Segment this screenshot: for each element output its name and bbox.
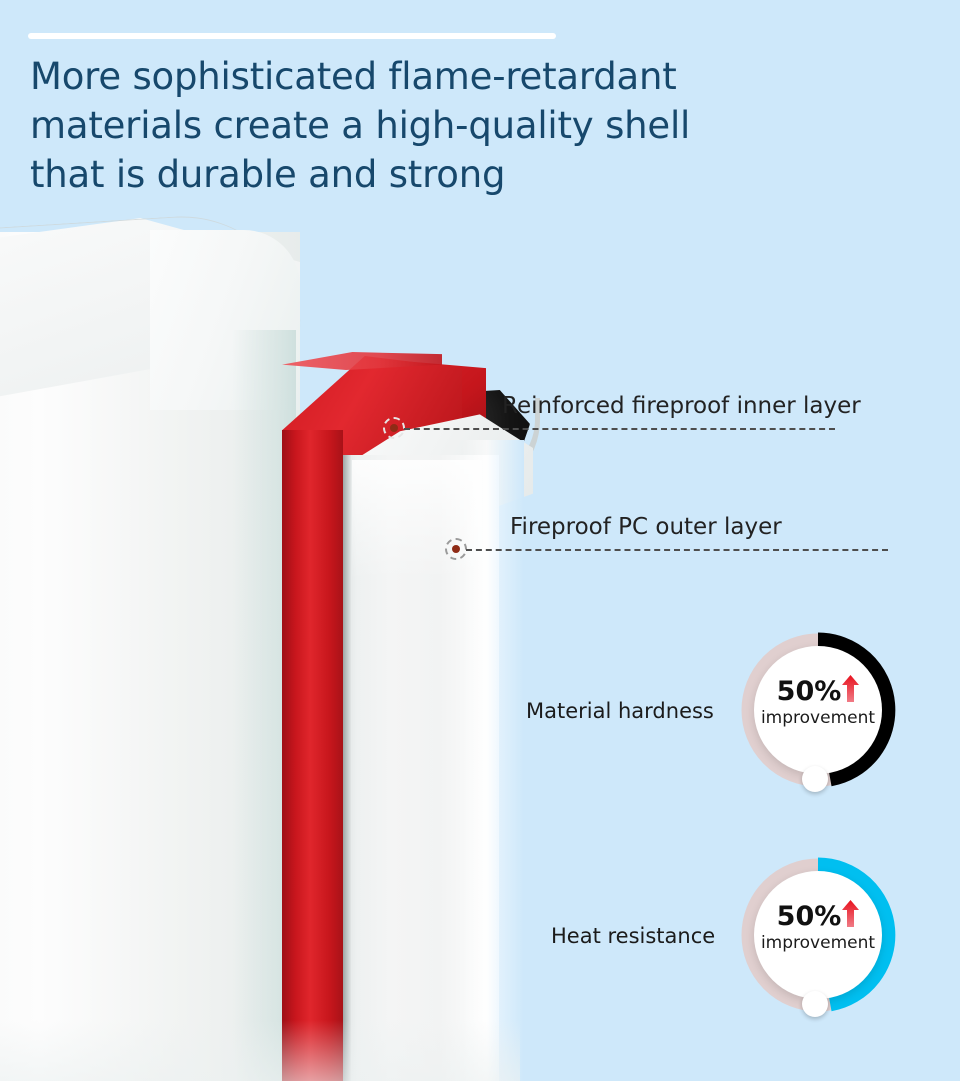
gauge-value: 50% [777,903,842,930]
red-inner-layer-strip [282,430,343,1081]
callout-label-inner-layer: Reinforced fireproof inner layer [502,392,861,420]
gauge-knob [802,991,828,1017]
metric-label-heat-resistance: Heat resistance [551,923,715,949]
callout-leader-inner-layer [404,428,835,430]
callout-marker-outer-layer [445,538,467,560]
outer-panel-edge [343,455,351,1081]
gauge-knob [802,766,828,792]
gauge-value-row: 50% [740,903,896,930]
metric-label-material-hardness: Material hardness [526,698,714,724]
metric-gauge-material-hardness: 50% improvement [740,632,896,788]
gauge-value: 50% [777,678,842,705]
gauge-caption: improvement [740,933,896,953]
gauge-caption: improvement [740,708,896,728]
arrow-up-icon [842,675,859,702]
callout-label-outer-layer: Fireproof PC outer layer [510,513,782,541]
callout-marker-inner-layer [383,417,405,439]
metric-gauge-heat-resistance: 50% improvement [740,857,896,1013]
shell-bottom-fade [0,1020,520,1081]
arrow-up-icon [842,900,859,927]
promo-graphic: More sophisticated flame-retardant mater… [0,0,960,1081]
callout-leader-outer-layer [466,549,888,551]
gauge-value-row: 50% [740,678,896,705]
